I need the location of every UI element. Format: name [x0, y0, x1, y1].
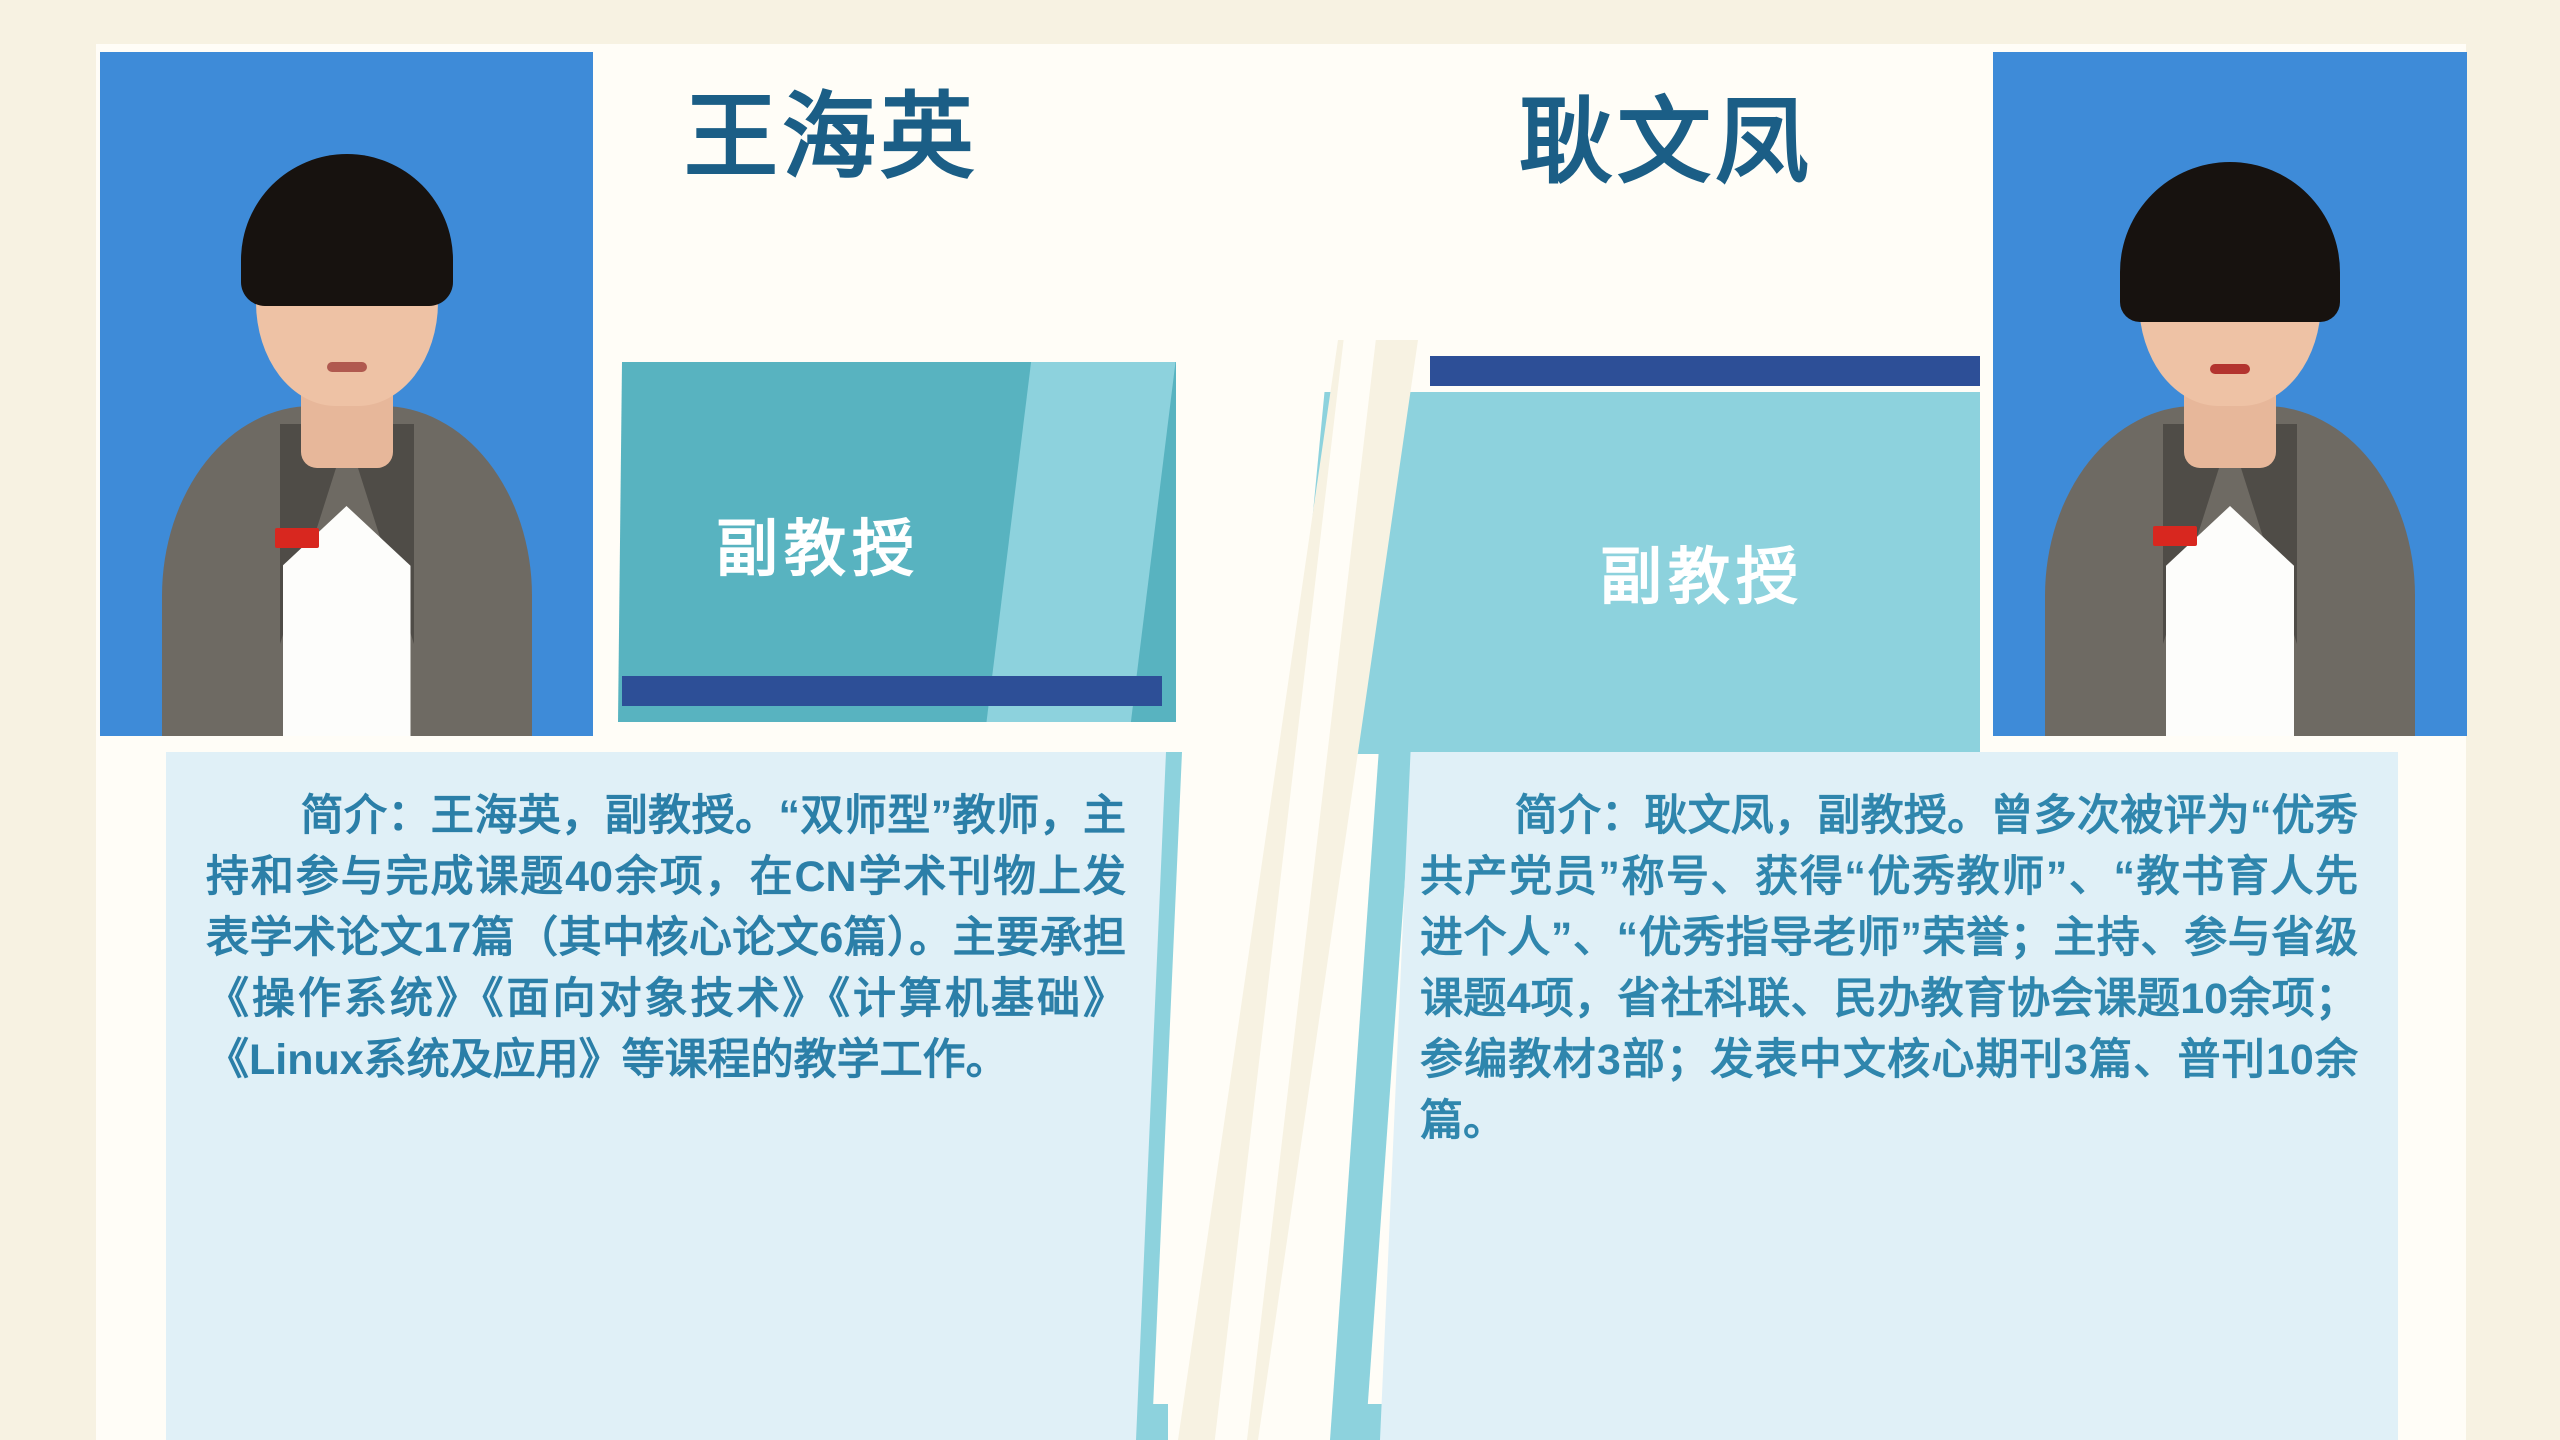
bio-text-1: 简介：王海英，副教授。“双师型”教师，主持和参与完成课题40余项，在CN学术刊物…: [206, 786, 1126, 1091]
mouth-icon: [2210, 364, 2250, 374]
bio-box-1: 简介：王海英，副教授。“双师型”教师，主持和参与完成课题40余项，在CN学术刊物…: [166, 752, 1166, 1440]
person-title-1: 副教授: [716, 498, 920, 588]
person-name-1: 王海英: [684, 90, 978, 184]
title-banner-1: 副教授: [618, 362, 1176, 722]
lapel-badge-icon: [2153, 526, 2197, 546]
banner-rule-2: [1430, 356, 1980, 386]
bio-text-2: 简介：耿文凤，副教授。曾多次被评为“优秀共产党员”称号、获得“优秀教师”、“教书…: [1420, 786, 2358, 1152]
mouth-icon: [327, 362, 367, 372]
person-name-2: 耿文凤: [1519, 95, 1813, 189]
bio-panel-2: 简介：耿文凤，副教授。曾多次被评为“优秀共产党员”称号、获得“优秀教师”、“教书…: [1270, 752, 2467, 1440]
hair-front-icon: [2120, 162, 2340, 322]
slide-canvas: 王海英 耿文凤 副教授 副教授 简介：王海英，副教授。“双师型”教师，主持和参与…: [0, 0, 2560, 1440]
banner-rule-1: [622, 676, 1162, 706]
lapel-badge-icon: [275, 528, 319, 548]
banner-accent-wedge: [986, 362, 1176, 722]
person-title-2: 副教授: [1600, 526, 1804, 616]
hair-front-icon: [241, 154, 453, 306]
bio-box-2: 简介：耿文凤，副教授。曾多次被评为“优秀共产党员”称号、获得“优秀教师”、“教书…: [1380, 752, 2398, 1440]
portrait-photo-geng-wenfeng: [1993, 52, 2467, 736]
portrait-photo-wang-haiying: [100, 52, 593, 736]
bio-panel-1: 简介：王海英，副教授。“双师型”教师，主持和参与完成课题40余项，在CN学术刊物…: [100, 752, 1205, 1440]
